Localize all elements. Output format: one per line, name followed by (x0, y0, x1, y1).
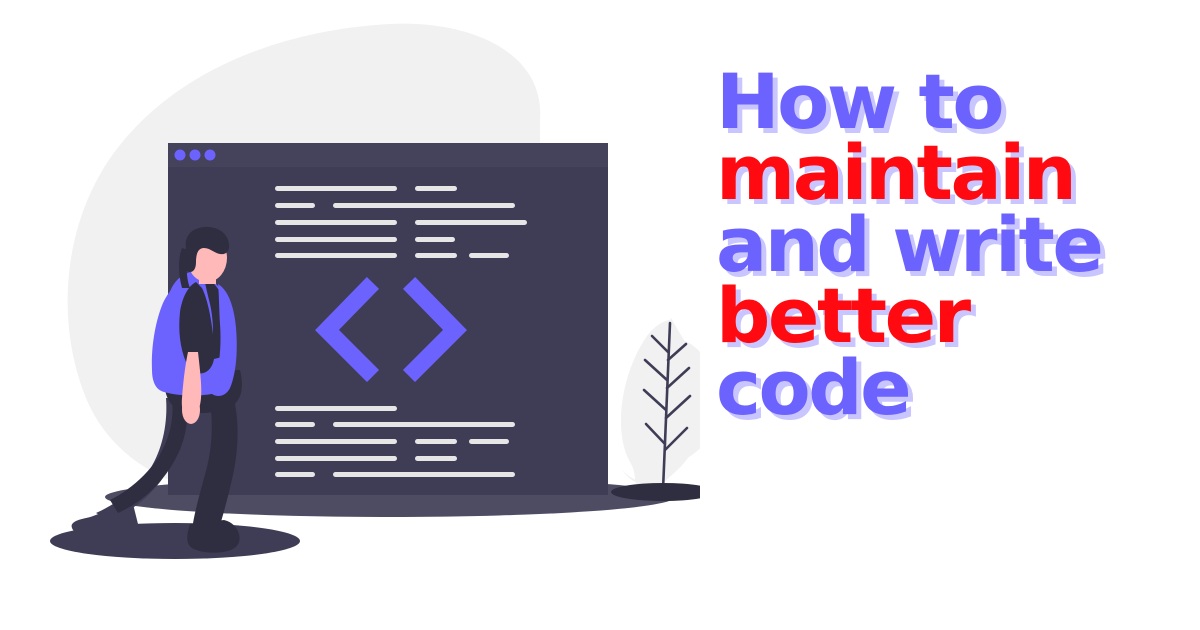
window-dot-maximize-icon[interactable] (205, 150, 216, 161)
window-dot-close-icon[interactable] (175, 150, 186, 161)
small-tree (611, 318, 700, 501)
code-window-titlebar (168, 143, 608, 167)
headline-line-2: maintain (700, 137, 1200, 208)
window-dot-minimize-icon[interactable] (190, 150, 201, 161)
person-front-shoe (187, 520, 239, 553)
headline-line-1: How to (700, 66, 1200, 137)
headline-line-5: code (700, 352, 1200, 423)
poster-canvas: How to maintain and write better code (0, 0, 1200, 630)
hero-illustration (0, 0, 700, 630)
headline-line-3: and write (700, 209, 1200, 280)
headline-line-4: better (700, 280, 1200, 351)
person-hand (182, 396, 200, 424)
headline-block: How to maintain and write better code (700, 0, 1200, 630)
